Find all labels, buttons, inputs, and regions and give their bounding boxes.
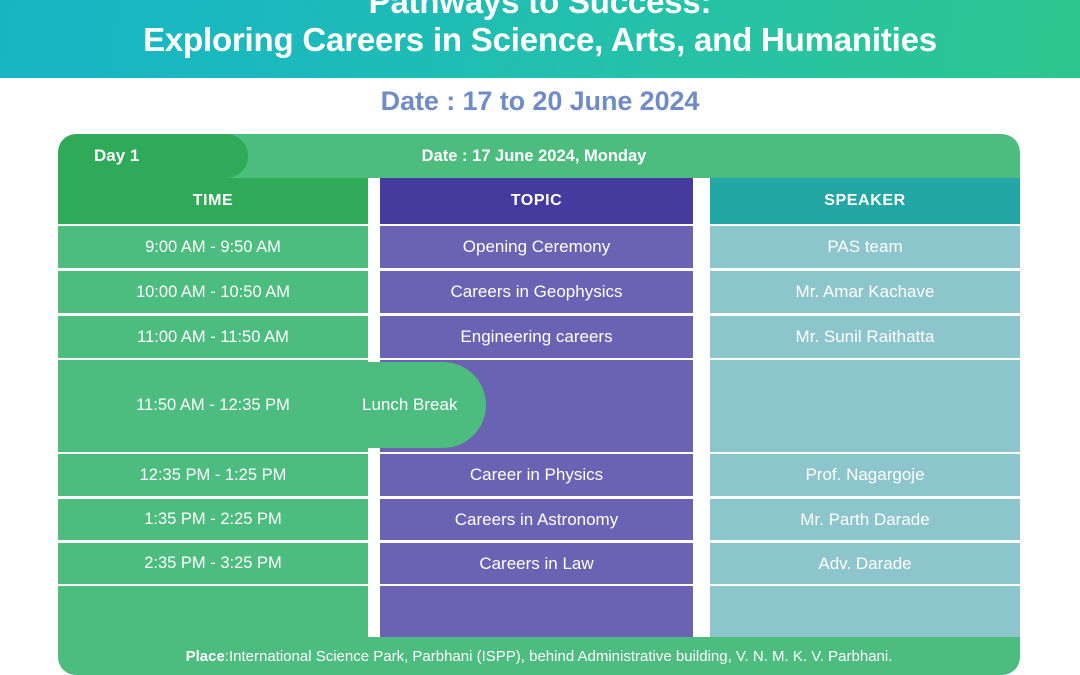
day-strip: Day 1 Date : 17 June 2024, Monday	[58, 134, 1020, 178]
column-header-speaker: SPEAKER	[710, 178, 1020, 224]
table-cell-topic: Engineering careers	[380, 314, 693, 360]
schedule-grid: TIME TOPIC SPEAKER 9:00 AM - 9:50 AM Ope…	[58, 178, 1020, 675]
event-date-range: Date : 17 to 20 June 2024	[0, 86, 1080, 117]
schedule-card: Day 1 Date : 17 June 2024, Monday TIME T…	[58, 134, 1020, 675]
table-cell-speaker: Prof. Nagargoje	[710, 452, 1020, 498]
table-cell-time: 2:35 PM - 3:25 PM	[58, 541, 368, 586]
table-cell-time: 10:00 AM - 10:50 AM	[58, 269, 368, 315]
table-cell-speaker: Mr. Parth Darade	[710, 497, 1020, 542]
table-cell-time: 11:00 AM - 11:50 AM	[58, 314, 368, 360]
table-cell-topic: Careers in Law	[380, 541, 693, 586]
table-cell-speaker: Mr. Amar Kachave	[710, 269, 1020, 315]
table-cell-time: 1:35 PM - 2:25 PM	[58, 497, 368, 542]
column-header-time: TIME	[58, 178, 368, 224]
banner-title-line1: Pathways to Success:	[369, 0, 712, 21]
venue-label: Place	[186, 648, 225, 665]
table-cell-speaker: Adv. Darade	[710, 541, 1020, 586]
table-cell-time: 12:35 PM - 1:25 PM	[58, 452, 368, 498]
column-header-topic: TOPIC	[380, 178, 693, 224]
day-date-label: Date : 17 June 2024, Monday	[248, 134, 1020, 178]
table-cell-topic: Opening Ceremony	[380, 224, 693, 270]
table-cell-time: 9:00 AM - 9:50 AM	[58, 224, 368, 270]
header-banner: Pathways to Success: Exploring Careers i…	[0, 0, 1080, 78]
table-cell-topic: Careers in Geophysics	[380, 269, 693, 315]
lunch-break-label: Lunch Break	[362, 395, 457, 415]
day-tab[interactable]: Day 1	[58, 134, 248, 178]
table-cell-topic: Careers in Astronomy	[380, 497, 693, 542]
banner-title-line2: Exploring Careers in Science, Arts, and …	[143, 21, 937, 59]
table-cell-topic: Career in Physics	[380, 452, 693, 498]
venue-text: International Science Park, Parbhani (IS…	[229, 648, 892, 665]
table-cell-speaker: Mr. Sunil Raithatta	[710, 314, 1020, 360]
day-tab-label: Day 1	[94, 146, 139, 166]
lunch-break-time: 11:50 AM - 12:35 PM	[58, 396, 368, 415]
venue-footer: Place : International Science Park, Parb…	[58, 637, 1020, 675]
table-cell-speaker: PAS team	[710, 224, 1020, 270]
poster-root: Pathways to Success: Exploring Careers i…	[0, 0, 1080, 675]
lunch-break-row: 11:50 AM - 12:35 PM Lunch Break	[58, 362, 486, 448]
